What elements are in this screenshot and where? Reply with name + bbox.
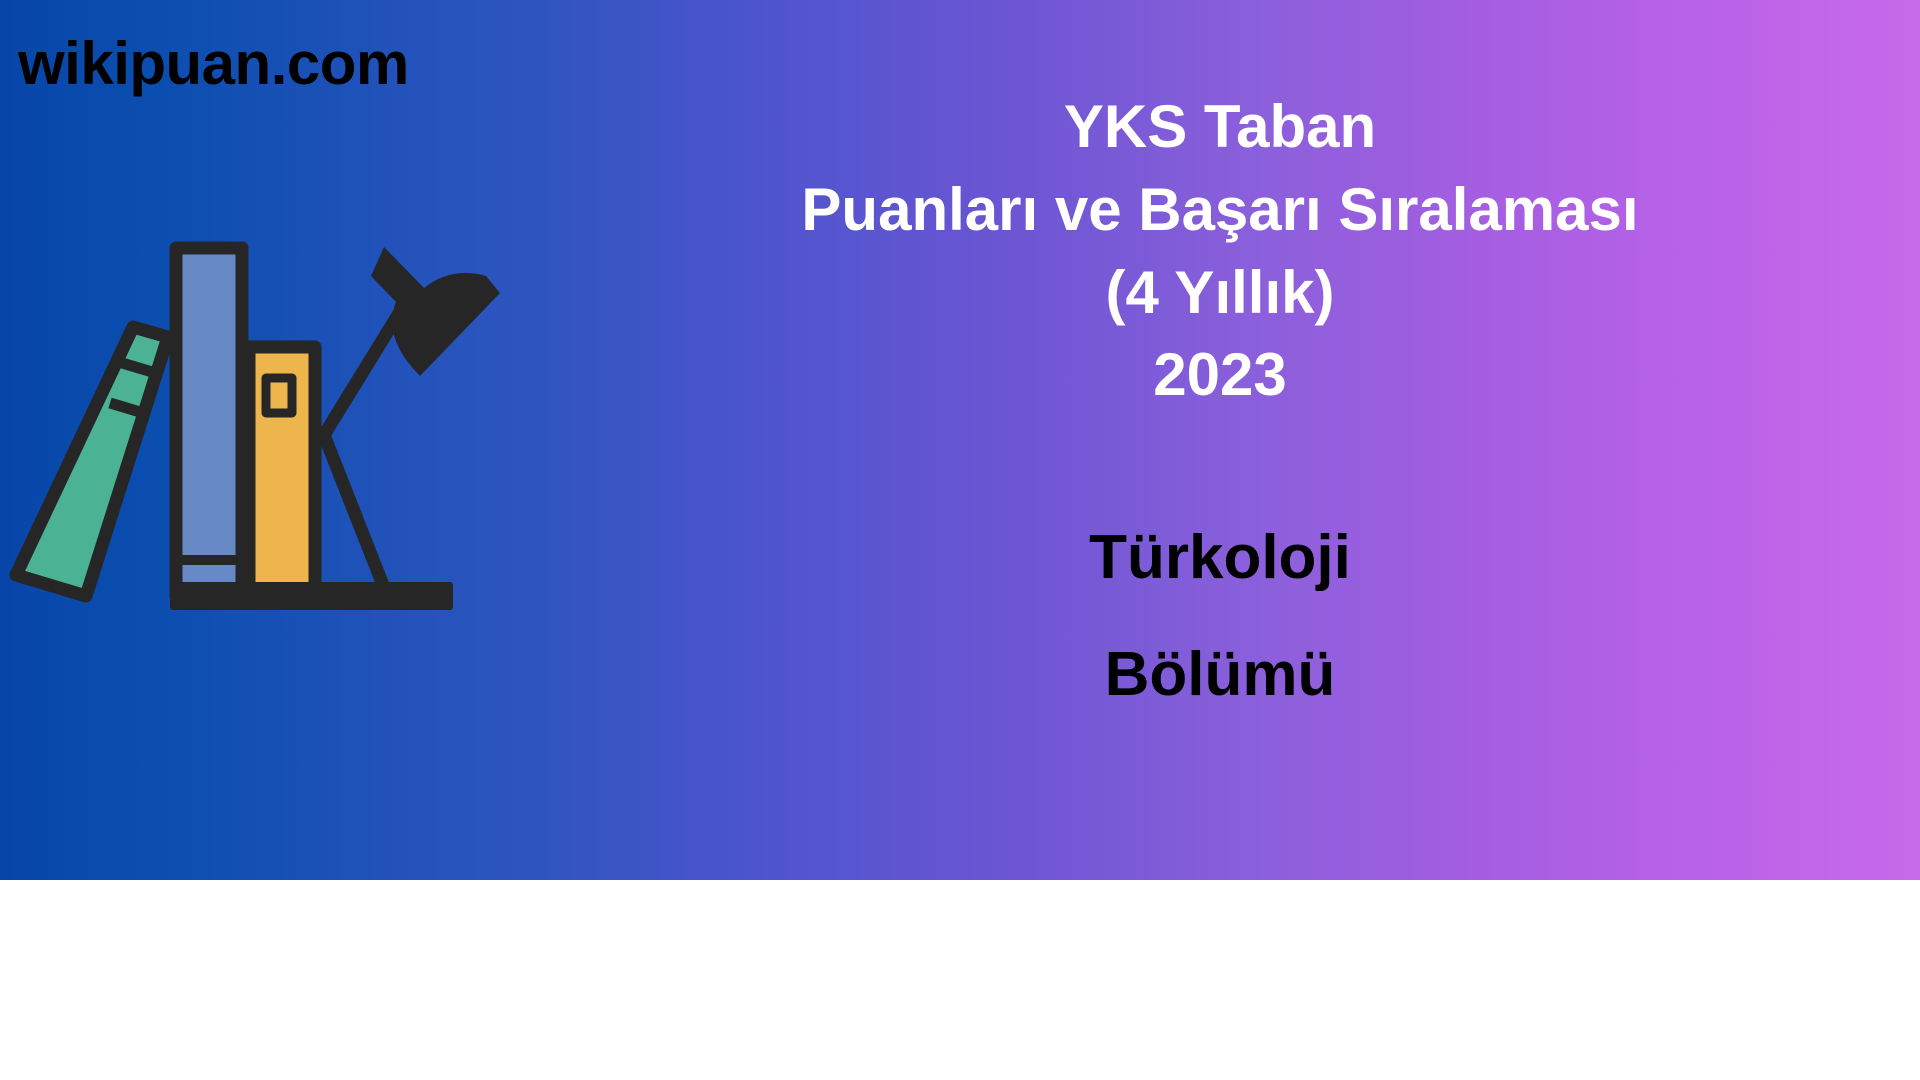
- blue-book-icon: [176, 248, 242, 596]
- yellow-book-icon: [249, 347, 315, 596]
- title-line-4-year: 2023: [620, 334, 1820, 417]
- site-watermark: wikipuan.com: [18, 34, 409, 94]
- department-line-2: Bölümü: [620, 617, 1820, 734]
- poster-canvas: wikipuan.com: [0, 0, 1920, 1080]
- department-line-1: Türkoloji: [620, 500, 1820, 617]
- title-line-1: YKS Taban: [620, 86, 1820, 169]
- title-line-3: (4 Yıllık): [620, 252, 1820, 335]
- books-and-lamp-illustration: [0, 230, 520, 620]
- shelf-base-bar: [170, 582, 453, 610]
- desk-lamp-icon: [324, 247, 500, 585]
- department-name: Türkoloji Bölümü: [620, 500, 1820, 733]
- poster-title: YKS Taban Puanları ve Başarı Sıralaması …: [620, 86, 1820, 417]
- green-book-icon: [16, 327, 168, 596]
- title-line-2: Puanları ve Başarı Sıralaması: [620, 169, 1820, 252]
